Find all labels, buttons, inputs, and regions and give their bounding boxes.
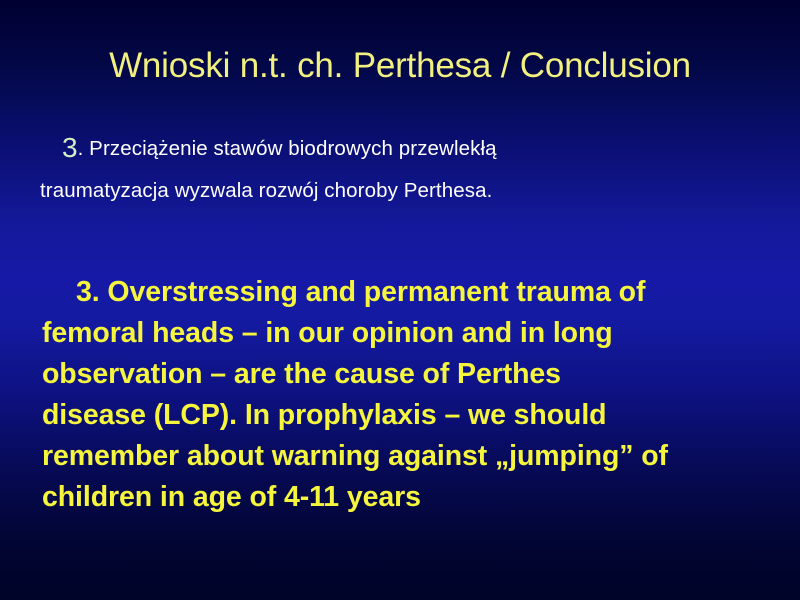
polish-line-2: traumatyzacja wyzwala rozwój choroby Per… xyxy=(40,170,740,212)
polish-conclusion-paragraph: 3. Przeciążenie stawów biodrowych przewl… xyxy=(40,128,740,212)
english-line-5: remember about warning against „jumping”… xyxy=(42,436,782,477)
slide-title-text: Wnioski n.t. ch. Perthesa / Conclusion xyxy=(109,47,691,86)
english-line-4: disease (LCP). In prophylaxis – we shoul… xyxy=(42,395,782,436)
polish-line-1: 3. Przeciążenie stawów biodrowych przewl… xyxy=(40,128,740,170)
english-conclusion-paragraph: 3. Overstressing and permanent trauma of… xyxy=(42,272,782,518)
english-line-3: observation – are the cause of Perthes xyxy=(42,354,782,395)
polish-line-1-text: . Przeciążenie stawów biodrowych przewle… xyxy=(78,137,497,160)
english-line-6: children in age of 4-11 years xyxy=(42,477,782,518)
list-marker-3: 3 xyxy=(62,132,78,163)
polish-line-2-text: traumatyzacja wyzwala rozwój choroby Per… xyxy=(40,179,492,202)
presentation-slide: Wnioski n.t. ch. Perthesa / Conclusion 3… xyxy=(0,0,800,600)
english-line-2: femoral heads – in our opinion and in lo… xyxy=(42,313,782,354)
english-line-1: 3. Overstressing and permanent trauma of xyxy=(42,272,782,313)
slide-title: Wnioski n.t. ch. Perthesa / Conclusion xyxy=(0,47,800,86)
